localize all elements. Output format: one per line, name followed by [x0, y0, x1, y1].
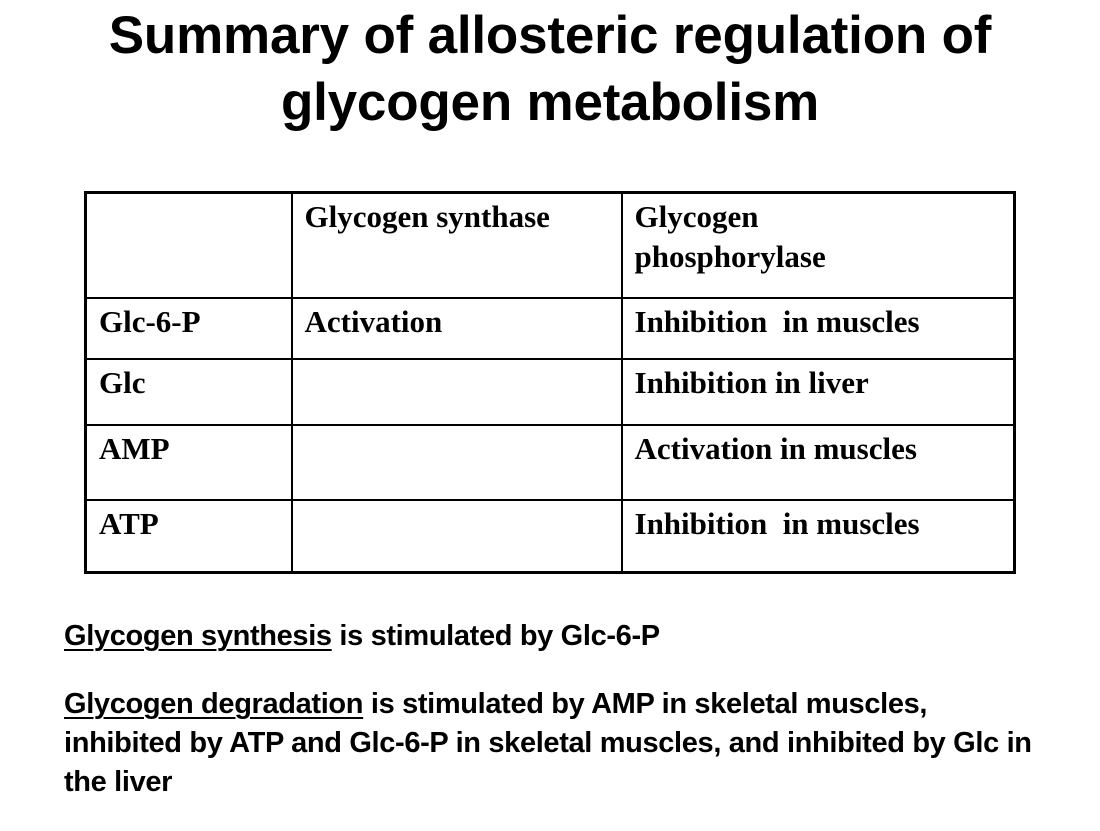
- table-row: Glc-6-P Activation Inhibition in muscles: [86, 298, 1015, 359]
- table-header-cell-effector: [86, 193, 292, 299]
- page-title-line-1: Summary of allosteric regulation of: [109, 6, 991, 65]
- table-cell-effector: AMP: [86, 425, 292, 500]
- table-header-cell-glycogen-phosphorylase: Glycogen phosphorylase: [622, 193, 1015, 299]
- note-glycogen-degradation: Glycogen degradation is stimulated by AM…: [64, 685, 1044, 802]
- note-1-rest: is stimulated by Glc-6-P: [332, 620, 660, 652]
- table-header-row: Glycogen synthase Glycogen phosphorylase: [86, 193, 1015, 299]
- table-row: ATP Inhibition in muscles: [86, 500, 1015, 573]
- table-cell-effector: Glc-6-P: [86, 298, 292, 359]
- page-title-line-2: glycogen metabolism: [0, 69, 1100, 136]
- table-cell-synthase: [292, 500, 622, 573]
- summary-table-container: Glycogen synthase Glycogen phosphorylase…: [84, 191, 1013, 574]
- page-title: Summary of allosteric regulation of glyc…: [0, 2, 1100, 136]
- note-glycogen-synthesis: Glycogen synthesis is stimulated by Glc-…: [64, 617, 1044, 656]
- note-1-emphasis: Glycogen synthesis: [64, 620, 332, 652]
- slide-canvas: Summary of allosteric regulation of glyc…: [0, 0, 1100, 802]
- table-cell-synthase: Activation: [292, 298, 622, 359]
- table-row: Glc Inhibition in liver: [86, 359, 1015, 425]
- table-cell-synthase: [292, 425, 622, 500]
- table-cell-phosphorylase: Inhibition in muscles: [622, 298, 1015, 359]
- note-2-emphasis: Glycogen degradation: [64, 688, 363, 720]
- table-cell-phosphorylase: Activation in muscles: [622, 425, 1015, 500]
- table-cell-effector: ATP: [86, 500, 292, 573]
- notes-section: Glycogen synthesis is stimulated by Glc-…: [64, 588, 1044, 831]
- allosteric-regulation-table: Glycogen synthase Glycogen phosphorylase…: [84, 191, 1016, 574]
- table-row: AMP Activation in muscles: [86, 425, 1015, 500]
- table-cell-phosphorylase: Inhibition in muscles: [622, 500, 1015, 573]
- table-cell-phosphorylase: Inhibition in liver: [622, 359, 1015, 425]
- table-cell-effector: Glc: [86, 359, 292, 425]
- table-cell-synthase: [292, 359, 622, 425]
- table-header-cell-glycogen-synthase: Glycogen synthase: [292, 193, 622, 299]
